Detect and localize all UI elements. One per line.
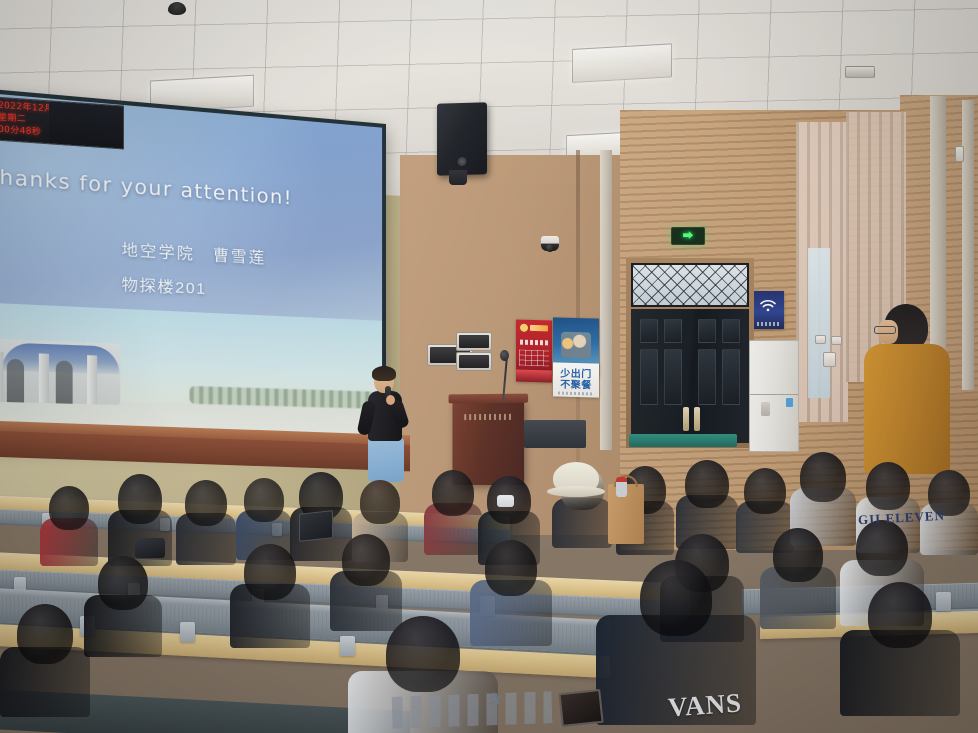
audience-person-head	[866, 462, 910, 510]
audience-person-head	[928, 470, 970, 516]
audience-person	[760, 528, 836, 644]
audience-person	[840, 582, 960, 733]
audience-person-head	[856, 520, 908, 576]
face-mask	[497, 495, 514, 507]
audience-person-head	[432, 470, 474, 516]
audience-person	[0, 604, 90, 733]
audience-person-head	[868, 582, 932, 648]
audience-person-head	[640, 560, 712, 636]
camera-device	[135, 538, 165, 558]
audience-person	[230, 544, 310, 664]
water-bottle	[616, 477, 627, 497]
audience-person	[176, 480, 236, 578]
lecture-hall-photo: Thanks for your attention! 地空学院 曹雪莲 物探楼2…	[0, 0, 978, 733]
audience-person-head	[342, 534, 390, 586]
audience-person-head	[98, 556, 148, 610]
tablet-device[interactable]	[299, 510, 333, 542]
tablet-device[interactable]	[558, 689, 603, 727]
audience-person-head	[244, 478, 284, 522]
audience-person-head	[485, 540, 537, 596]
audience-person-head	[185, 480, 227, 526]
audience-person-head	[244, 544, 296, 600]
tshirt-star-icon: ✰	[486, 689, 506, 709]
audience-person-head	[386, 616, 460, 692]
audience-person-head	[17, 604, 73, 664]
bucket-hat-brim	[547, 486, 605, 497]
audience-person-head	[118, 474, 162, 524]
tshirt-graphic-print	[391, 691, 552, 729]
audience-person	[920, 470, 978, 568]
audience-person	[84, 556, 162, 672]
bucket-hat	[553, 462, 599, 495]
audience-person-head	[685, 460, 729, 508]
audience-person	[596, 560, 756, 733]
audience-person-head	[49, 486, 89, 530]
audience-person-head	[360, 480, 400, 524]
audience-person-head	[800, 452, 846, 502]
audience-person-head	[744, 468, 786, 514]
audience-person-head	[773, 528, 823, 582]
audience-people	[0, 0, 978, 733]
